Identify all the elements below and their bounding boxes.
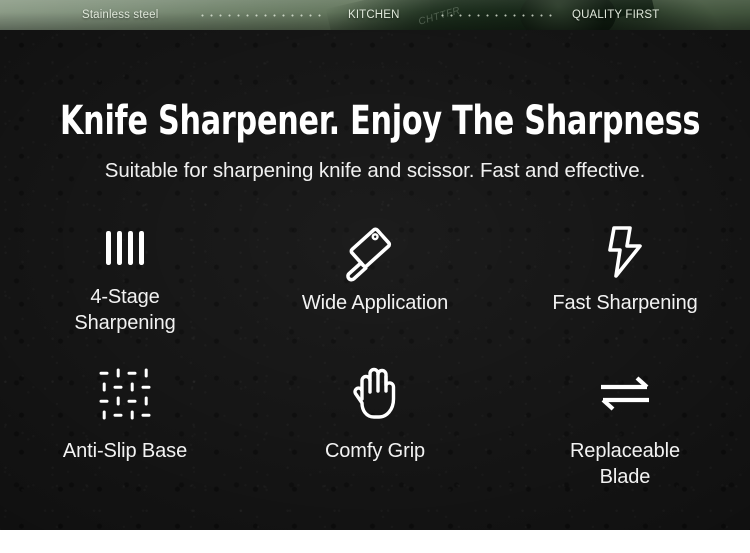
feature-fast-sharpening: Fast Sharpening bbox=[500, 216, 750, 356]
grip-dash bbox=[141, 410, 151, 420]
feature-label: Replaceable Blade bbox=[570, 438, 680, 490]
feature-anti-slip-base: Anti-Slip Base bbox=[0, 356, 250, 506]
banner-label-quality-first: QUALITY FIRST bbox=[572, 9, 659, 21]
feature-label: Wide Application bbox=[302, 290, 448, 316]
grip-dash bbox=[99, 410, 109, 420]
top-banner: CHTTFR Stainless steel KITCHEN QUALITY F… bbox=[0, 0, 750, 30]
grip-dash bbox=[127, 410, 137, 420]
feature-comfy-grip: Comfy Grip bbox=[250, 356, 500, 506]
feature-wide-application: Wide Application bbox=[250, 216, 500, 356]
feature-label: Comfy Grip bbox=[325, 438, 425, 464]
grip-dash bbox=[141, 368, 151, 378]
product-feature-banner: CHTTFR Stainless steel KITCHEN QUALITY F… bbox=[0, 0, 750, 553]
grip-dash bbox=[99, 382, 109, 392]
grip-dash bbox=[113, 382, 123, 392]
banner-label-kitchen: KITCHEN bbox=[348, 9, 400, 21]
feature-label: Fast Sharpening bbox=[552, 290, 697, 316]
grip-dash bbox=[113, 396, 123, 406]
footer-white-strip bbox=[0, 530, 750, 553]
grip-dash bbox=[127, 368, 137, 378]
banner-dotted-divider-2 bbox=[438, 14, 558, 17]
grip-dash bbox=[99, 396, 109, 406]
lightning-bolt-icon bbox=[603, 216, 647, 288]
feature-label: 4-Stage Sharpening bbox=[74, 284, 175, 336]
feature-label-line-1: Replaceable bbox=[570, 440, 680, 462]
page-subtitle: Suitable for sharpening knife and scisso… bbox=[0, 158, 750, 184]
feature-label-line-1: 4-Stage bbox=[90, 286, 159, 308]
banner-label-stainless-steel: Stainless steel bbox=[82, 9, 158, 21]
feature-replaceable-blade: Replaceable Blade bbox=[500, 356, 750, 506]
grip-dash bbox=[127, 396, 137, 406]
feature-label-line-2: Sharpening bbox=[74, 312, 175, 334]
feature-row-1: 4-Stage Sharpening bbox=[0, 216, 750, 356]
main-panel: Knife Sharpener. Enjoy The Sharpness Sui… bbox=[0, 30, 750, 530]
four-bars-icon bbox=[102, 216, 148, 280]
grip-dash bbox=[99, 368, 109, 378]
feature-four-stage-sharpening: 4-Stage Sharpening bbox=[0, 216, 250, 356]
feature-label: Anti-Slip Base bbox=[63, 438, 187, 464]
grip-dash-grid-icon bbox=[99, 356, 151, 432]
grip-dash bbox=[141, 382, 151, 392]
grip-dash bbox=[113, 410, 123, 420]
feature-label-line-2: Blade bbox=[600, 466, 651, 488]
grip-dash bbox=[127, 382, 137, 392]
grip-dash bbox=[141, 396, 151, 406]
feature-grid: 4-Stage Sharpening bbox=[0, 216, 750, 506]
hand-palm-icon bbox=[349, 356, 401, 432]
banner-dotted-divider-1 bbox=[198, 14, 326, 17]
page-title: Knife Sharpener. Enjoy The Sharpness bbox=[60, 99, 690, 143]
swap-arrows-icon bbox=[597, 356, 653, 432]
feature-row-2: Anti-Slip Base bbox=[0, 356, 750, 506]
grip-dash bbox=[113, 368, 123, 378]
cleaver-knife-icon bbox=[340, 216, 410, 290]
